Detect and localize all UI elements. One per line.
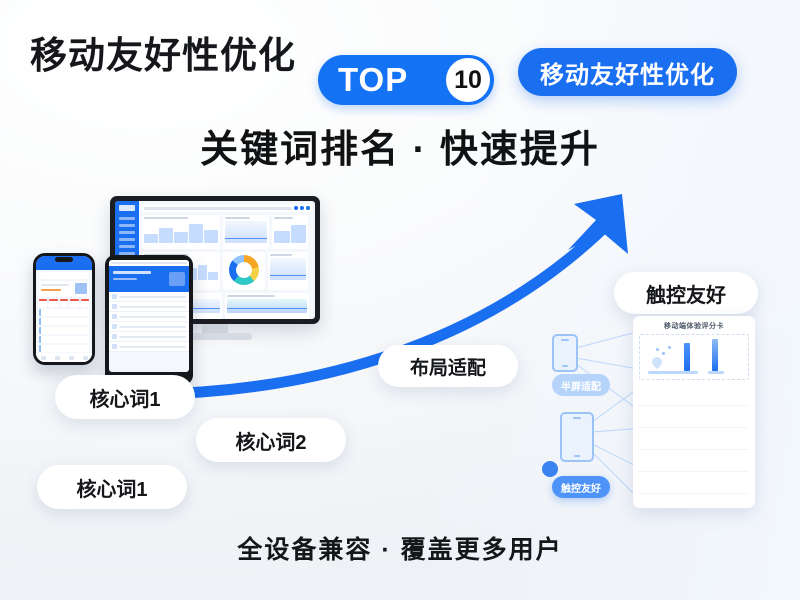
dashboard-card	[223, 215, 269, 249]
tablet-mockup	[105, 255, 193, 385]
table-row	[639, 384, 749, 406]
score-card: 移动端体验评分卡	[633, 316, 755, 508]
feature-tag-badge: 移动友好性优化	[518, 48, 737, 96]
phone-notch	[55, 257, 73, 262]
dashboard-card	[268, 252, 308, 290]
small-phone-icon	[552, 334, 578, 372]
phone-tabbar	[36, 353, 92, 362]
table-row	[639, 472, 749, 494]
dashboard-donut-card	[223, 252, 265, 290]
keyword-pill: 核心词1	[37, 465, 187, 509]
location-pin-icon	[650, 355, 664, 369]
touch-friendly-pill: 触控友好	[614, 272, 758, 314]
table-row	[639, 450, 749, 472]
phone-search-bar	[39, 272, 89, 279]
tablet-screen	[109, 260, 189, 372]
phone-promo-card	[39, 281, 89, 297]
footer-tagline: 全设备兼容 · 覆盖更多用户	[0, 530, 800, 566]
touch-point-dot	[542, 461, 558, 477]
tablet-hero-banner	[109, 266, 189, 292]
score-card-chart	[639, 334, 749, 380]
table-row	[639, 494, 749, 515]
phone-screen	[36, 256, 92, 362]
table-row	[639, 406, 749, 428]
dashboard-topbar	[142, 204, 312, 212]
page-title: 移动友好性优化	[30, 25, 296, 79]
diagram-label-lower: 触控友好	[552, 476, 610, 498]
layout-adapt-pill: 布局适配	[378, 345, 518, 387]
top-label: TOP	[318, 61, 408, 99]
poster-canvas: 移动友好性优化 TOP 10 移动友好性优化 关键词排名 · 快速提升	[0, 0, 800, 600]
score-card-rows	[639, 384, 749, 515]
diagram-label-upper: 半屏适配	[552, 374, 610, 396]
keyword-pill: 核心词1	[55, 375, 195, 419]
keyword-pill: 核心词2	[196, 418, 346, 462]
top-rank-badge: TOP 10	[318, 55, 494, 105]
rank-number: 10	[446, 58, 490, 102]
donut-chart	[229, 255, 259, 285]
phone-mockup	[33, 253, 95, 365]
dashboard-card	[142, 215, 220, 249]
score-card-title: 移动端体验评分卡	[639, 321, 749, 331]
table-row	[639, 428, 749, 450]
dashboard-card	[272, 215, 308, 249]
dashboard-area-card	[225, 293, 309, 319]
page-subtitle: 关键词排名 · 快速提升	[0, 118, 800, 173]
large-phone-icon	[560, 412, 594, 462]
